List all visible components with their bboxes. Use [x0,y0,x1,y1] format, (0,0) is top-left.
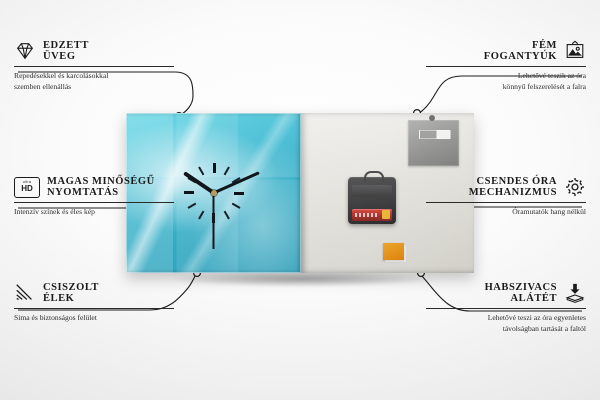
polished-edges-icon [14,282,36,304]
metal-hanger [408,120,459,166]
feature-title-line2: NYOMTATÁS [47,187,155,198]
feature-title-line1: EDZETT [43,40,89,51]
divider [426,308,586,309]
battery [352,209,392,221]
divider [14,66,174,67]
feature-title-line2: FOGANTYÚK [484,51,557,62]
divider [426,66,586,67]
feature-title-line2: ÉLEK [43,293,99,304]
movement-hook [364,171,384,182]
feature-description: Sima és biztonságos felület [14,312,174,323]
foam-pad-icon [564,282,586,304]
feature-title-line1: HABSZIVACS [485,282,557,293]
battery-label-bars [355,213,379,217]
divider [14,308,174,309]
feature-hd-print: ultra HD MAGAS MINŐSÉGŰ NYOMTATÁS Intenz… [14,176,174,217]
quartz-movement [348,177,396,224]
feature-foam-pad: HABSZIVACS ALÁTÉT Lehetővé teszi az óra … [426,282,586,334]
ultra-hd-large-text: HD [21,185,33,193]
feature-title-line1: CSENDES ÓRA [469,176,557,187]
infographic-stage: EDZETT ÜVEG Repedésekkel és karcolásokka… [0,0,600,400]
feature-title-line2: MECHANIZMUS [469,187,557,198]
feature-tempered-glass: EDZETT ÜVEG Repedésekkel és karcolásokka… [14,40,174,92]
divider [14,202,174,203]
feature-description: Intenzív színek és éles kép [14,206,174,217]
feature-polished-edges: CSISZOLT ÉLEK Sima és biztonságos felüle… [14,282,174,323]
divider [426,202,586,203]
feature-description: Repedésekkel és karcolásokkal szemben el… [14,70,174,92]
feature-title-line1: FÉM [484,40,557,51]
battery-plus-terminal [382,210,390,219]
gear-icon [564,176,586,198]
feature-title-line2: ALÁTÉT [485,293,557,304]
feature-description: Lehetővé teszi az óra egyenletes távolsá… [426,312,586,334]
diamond-icon [14,40,36,62]
feature-metal-hangers: FÉM FOGANTYÚK Lehetővé teszik az óra kön… [426,40,586,92]
product-wall-clock [126,113,474,273]
feature-title-line2: ÜVEG [43,51,89,62]
hanger-screw [429,115,435,121]
hanger-slot [419,130,451,139]
feature-description: Óramutatók hang nélkül [426,206,586,217]
picture-hanger-icon [564,40,586,62]
feature-description: Lehetővé teszik az óra könnyű felszerelé… [426,70,586,92]
foam-pad [383,243,404,260]
feature-title-line1: CSISZOLT [43,282,99,293]
movement-ridge [352,185,392,197]
feature-silent-movement: CSENDES ÓRA MECHANIZMUS Óramutatók hang … [426,176,586,217]
feature-title-line1: MAGAS MINŐSÉGŰ [47,176,155,187]
ultra-hd-icon: ultra HD [14,177,40,198]
